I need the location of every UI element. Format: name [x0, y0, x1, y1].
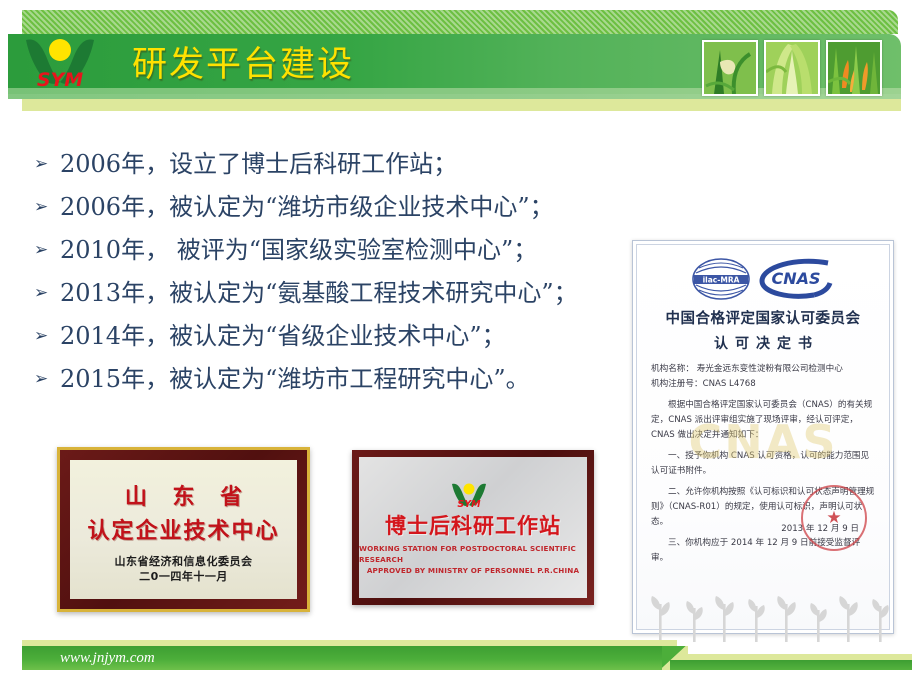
arrow-bullet-icon: ➢	[34, 190, 60, 224]
plaque-shandong-tech-center: 山 东 省 认定企业技术中心 山东省经济和信息化委员会 二0一四年十一月	[57, 447, 310, 612]
plaque-postdoc-en-line1: WORKING STATION FOR POSTDOCTORAL SCIENTI…	[359, 543, 587, 565]
list-item-text: 2010年， 被评为“国家级实验室检测中心”；	[60, 233, 537, 267]
certificate-org-name: 机构名称： 寿光金远东变性淀粉有限公司检测中心	[651, 362, 875, 377]
slide-footer: www.jnjym.com	[22, 640, 912, 670]
list-item: ➢ 2013年，被认定为“氨基酸工程技术研究中心”；	[34, 276, 634, 319]
arrow-bullet-icon: ➢	[34, 233, 60, 267]
plaque-shandong-line1: 山 东 省	[116, 479, 251, 511]
svg-text:CNAS: CNAS	[771, 269, 820, 288]
plaque-shandong-issuer: 山东省经济和信息化委员会	[115, 554, 253, 569]
plaque-postdoc-en-line2: APPROVED BY MINISTRY OF PERSONNEL P.R.CH…	[367, 565, 579, 576]
list-item: ➢ 2015年，被认定为“潍坊市工程研究中心”。	[34, 362, 634, 405]
ilac-mra-icon: ilac-MRA	[690, 257, 752, 301]
certificate-title-line1: 中国合格评定国家认可委员会	[651, 307, 875, 328]
corn-plant-thumb-3	[826, 40, 882, 96]
plaque-shandong-line2: 认定企业技术中心	[87, 513, 279, 545]
plaque-frame: 山 东 省 认定企业技术中心 山东省经济和信息化委员会 二0一四年十一月	[60, 450, 307, 609]
page-title: 研发平台建设	[132, 36, 354, 87]
official-seal-stamp: ★	[801, 485, 867, 551]
certificate-paragraph-1: 一、授予你机构 CNAS 认可资格，认可的能力范围见认可证书附件。	[651, 449, 875, 479]
corn-plant-thumb-2	[764, 40, 820, 96]
footer-green-right	[670, 660, 912, 670]
plaque-postdoctoral-workstation: SYM 博士后科研工作站 WORKING STATION FOR POSTDOC…	[352, 450, 594, 605]
plaque-shandong-date: 二0一四年十一月	[139, 569, 228, 584]
company-logo: SYM	[20, 30, 116, 94]
bullet-list: ➢ 2006年，设立了博士后科研工作站； ➢ 2006年，被认定为“潍坊市级企业…	[34, 147, 634, 405]
list-item-text: 2006年，设立了博士后科研工作站；	[60, 147, 457, 181]
list-item-text: 2015年，被认定为“潍坊市工程研究中心”。	[60, 362, 530, 396]
list-item: ➢ 2006年，被认定为“潍坊市级企业技术中心”；	[34, 190, 634, 233]
sprout-decoration	[650, 590, 908, 642]
list-item-text: 2013年，被认定为“氨基酸工程技术研究中心”；	[60, 276, 578, 310]
cnas-logo-icon: CNAS	[756, 257, 836, 301]
footer-website-url: www.jnjym.com	[60, 650, 155, 667]
certificate-cnas: CNAS ilac-MRA CNAS 中国合格评定国家认可委员会 认可决定书 机…	[632, 240, 894, 634]
slide-header: SYM 研发平台建设	[0, 0, 920, 120]
header-texture-strip	[22, 10, 898, 34]
company-logo-small: SYM	[447, 479, 499, 511]
svg-text:SYM: SYM	[457, 499, 481, 510]
arrow-bullet-icon: ➢	[34, 276, 60, 310]
arrow-bullet-icon: ➢	[34, 147, 60, 181]
header-khaki-notch	[0, 99, 22, 111]
plaque-inner: SYM 博士后科研工作站 WORKING STATION FOR POSTDOC…	[359, 457, 587, 598]
arrow-bullet-icon: ➢	[34, 319, 60, 353]
list-item-text: 2014年，被认定为“省级企业技术中心”；	[60, 319, 506, 353]
list-item-text: 2006年，被认定为“潍坊市级企业技术中心”；	[60, 190, 554, 224]
list-item: ➢ 2010年， 被评为“国家级实验室检测中心”；	[34, 233, 634, 276]
certificate-title-line2: 认可决定书	[651, 333, 875, 353]
svg-text:ilac-MRA: ilac-MRA	[703, 276, 740, 285]
certificate-body: CNAS ilac-MRA CNAS 中国合格评定国家认可委员会 认可决定书 机…	[636, 244, 890, 630]
list-item: ➢ 2006年，设立了博士后科研工作站；	[34, 147, 634, 190]
list-item: ➢ 2014年，被认定为“省级企业技术中心”；	[34, 319, 634, 362]
header-thumbnail-strip	[702, 40, 882, 96]
plaque-postdoc-title: 博士后科研工作站	[385, 510, 561, 540]
certificate-logo-row: ilac-MRA CNAS	[651, 257, 875, 301]
corn-plant-thumb-1	[702, 40, 758, 96]
plaque-inner: 山 东 省 认定企业技术中心 山东省经济和信息化委员会 二0一四年十一月	[70, 460, 297, 599]
svg-text:SYM: SYM	[37, 69, 83, 91]
header-khaki-stripe	[8, 99, 901, 111]
certificate-reg-no: 机构注册号：CNAS L4768	[651, 377, 875, 392]
certificate-paragraph-intro: 根据中国合格评定国家认可委员会（CNAS）的有关规定，CNAS 派出评审组实施了…	[651, 398, 875, 443]
arrow-bullet-icon: ➢	[34, 362, 60, 396]
